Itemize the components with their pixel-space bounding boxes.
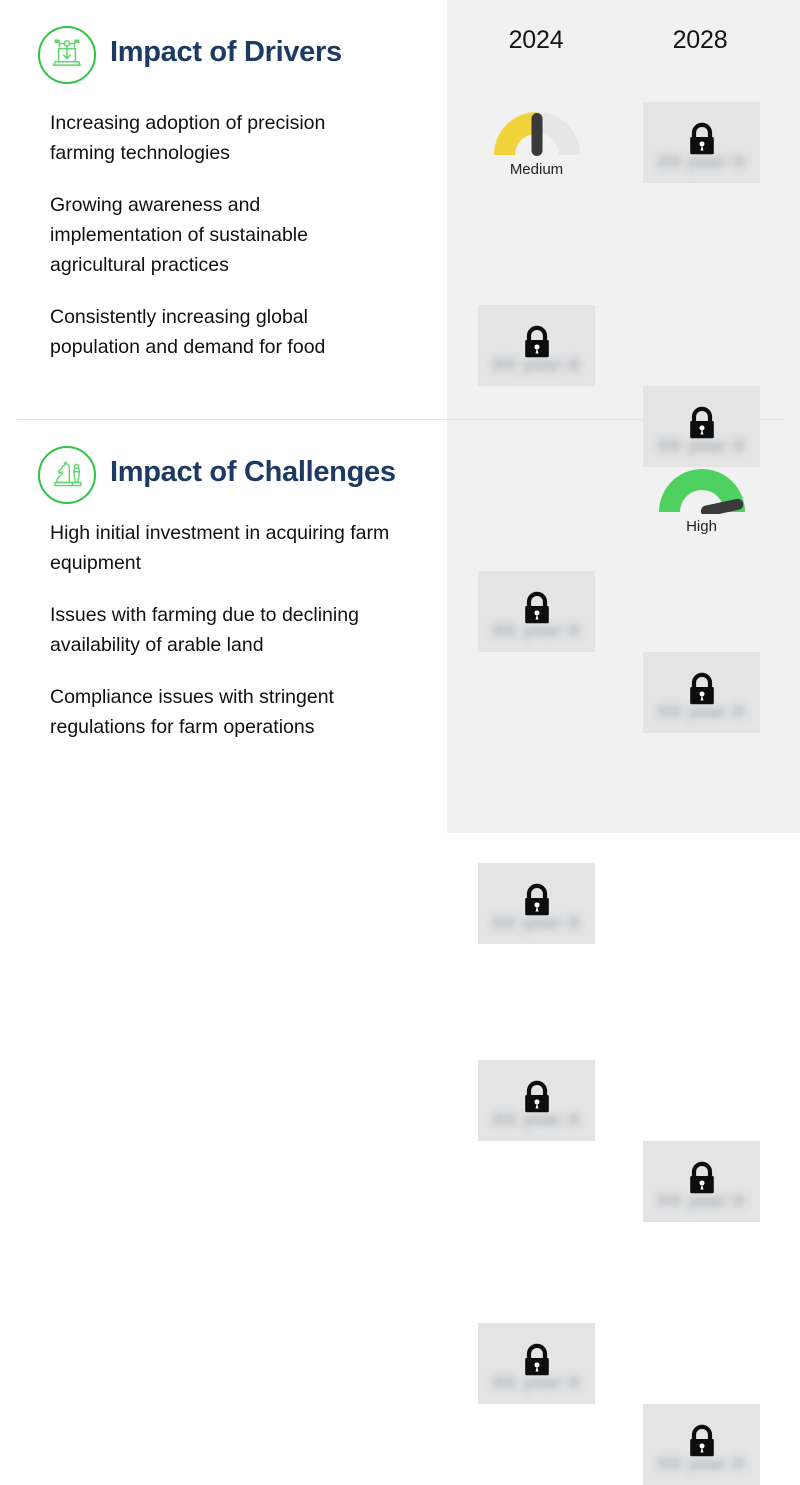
locked-cell-challenges-r2-2028[interactable]: XX year-X (643, 1141, 760, 1222)
list-item: High initial investment in acquiring far… (50, 518, 395, 578)
section-challenges-header: Impact of Challenges (0, 420, 447, 500)
section-drivers-header: Impact of Drivers (0, 0, 447, 80)
locked-cell-drivers-r2-2024[interactable]: XX year-X (478, 305, 595, 386)
locked-cell-challenges-r3-2024[interactable]: XX year-X (478, 1323, 595, 1404)
lock-icon (685, 404, 719, 447)
section-drivers-title: Impact of Drivers (110, 36, 342, 69)
locked-cell-challenges-r1-2024[interactable]: XX year-X (478, 863, 595, 944)
lock-icon (685, 1422, 719, 1465)
list-item: Increasing adoption of precision farming… (50, 108, 395, 168)
precision-farming-icon (38, 26, 96, 84)
lock-icon (520, 1341, 554, 1384)
gauge-challenges-2028[interactable]: High (643, 462, 760, 557)
section-drivers: Impact of Drivers Increasing adoption of… (0, 0, 447, 80)
gauge-value-label: Medium (478, 161, 595, 178)
lock-icon (520, 1078, 554, 1121)
gauge-dial (489, 105, 585, 157)
gauge-drivers-2024[interactable]: Medium (478, 105, 595, 200)
column-header-2028: 2028 (620, 26, 780, 55)
chess-pieces-icon (38, 446, 96, 504)
locked-cell-drivers-r1-2028[interactable]: XX year-X (643, 102, 760, 183)
locked-cell-challenges-r3-2028[interactable]: XX year-X (643, 1404, 760, 1485)
gauge-value-label: High (643, 518, 760, 535)
infographic-page: 2024 2028 (0, 0, 800, 833)
list-item: Compliance issues with stringent regulat… (50, 682, 395, 742)
locked-cell-drivers-r3-2024[interactable]: XX year-X (478, 571, 595, 652)
challenges-bullet-list: High initial investment in acquiring far… (50, 518, 440, 742)
locked-cell-drivers-r3-2028[interactable]: XX year-X (643, 652, 760, 733)
lock-icon (520, 589, 554, 632)
list-item: Growing awareness and implementation of … (50, 190, 395, 280)
lock-icon (685, 1159, 719, 1202)
lock-icon (685, 120, 719, 163)
locked-cell-challenges-r2-2024[interactable]: XX year-X (478, 1060, 595, 1141)
locked-cell-drivers-r2-2028[interactable]: XX year-X (643, 386, 760, 467)
section-challenges-title: Impact of Challenges (110, 456, 396, 489)
lock-icon (520, 881, 554, 924)
section-challenges: Impact of Challenges High initial invest… (0, 420, 447, 500)
list-item: Issues with farming due to declining ava… (50, 600, 395, 660)
drivers-bullet-list: Increasing adoption of precision farming… (50, 108, 440, 362)
column-header-2024: 2024 (456, 26, 616, 55)
lock-icon (685, 670, 719, 713)
lock-icon (520, 323, 554, 366)
list-item: Consistently increasing global populatio… (50, 302, 395, 362)
gauge-dial (654, 462, 750, 514)
